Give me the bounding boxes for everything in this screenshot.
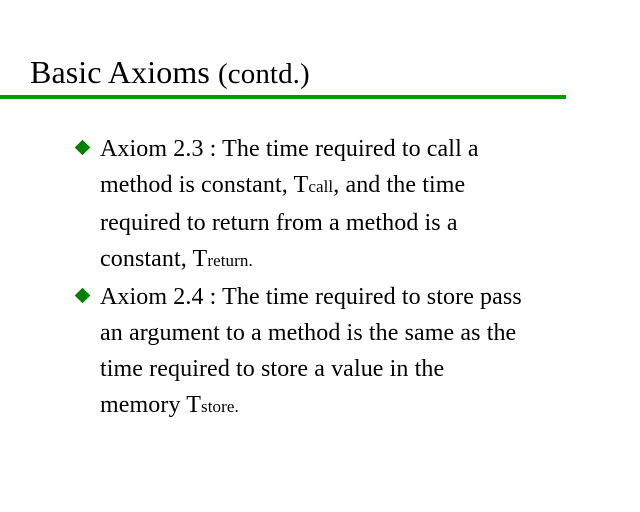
page-title-main: Basic Axioms bbox=[30, 54, 218, 90]
bullet-line: required to return from a method is a bbox=[100, 205, 640, 241]
bullet-text-segment: , and the time bbox=[333, 172, 465, 198]
bullet-text-segment: method is constant, bbox=[100, 172, 294, 198]
page-title-suffix: (contd.) bbox=[218, 58, 310, 90]
bullet-text-block: Axiom 2.3 : The time required to call a … bbox=[100, 131, 640, 279]
variable-subscript: return. bbox=[207, 251, 253, 270]
bullet-line: Axiom 2.4 : The time required to store p… bbox=[100, 279, 640, 315]
green-diamond-bullet-icon bbox=[75, 140, 91, 156]
variable-symbol: T bbox=[186, 392, 201, 418]
bullet-text-segment: Axiom 2.3 : The time required to call a bbox=[100, 136, 479, 162]
variable-symbol: T bbox=[294, 172, 309, 198]
slide-title-block: Basic Axioms (contd.) bbox=[0, 52, 640, 100]
green-diamond-bullet-icon bbox=[75, 288, 91, 304]
bullet-line: memory Tstore. bbox=[100, 387, 640, 425]
bullet-text-block: Axiom 2.4 : The time required to store p… bbox=[100, 279, 640, 425]
bullet-text-segment: constant, bbox=[100, 246, 193, 272]
page-title: Basic Axioms (contd.) bbox=[30, 52, 310, 94]
bullet-line: method is constant, Tcall, and the time bbox=[100, 167, 640, 205]
list-item: Axiom 2.4 : The time required to store p… bbox=[0, 279, 640, 425]
bullet-text-segment: Axiom 2.4 : The time required to store p… bbox=[100, 284, 522, 310]
variable-symbol: T bbox=[193, 246, 208, 272]
bullet-text-segment: an argument to a method is the same as t… bbox=[100, 320, 516, 346]
title-underline-rule bbox=[0, 95, 566, 99]
list-item: Axiom 2.3 : The time required to call a … bbox=[0, 131, 640, 279]
slide-body-content: Axiom 2.3 : The time required to call a … bbox=[0, 131, 640, 425]
bullet-line: constant, Treturn. bbox=[100, 241, 640, 279]
variable-subscript: store. bbox=[201, 397, 239, 416]
bullet-text-segment: time required to store a value in the bbox=[100, 356, 444, 382]
bullet-line: an argument to a method is the same as t… bbox=[100, 315, 640, 351]
variable-subscript: call bbox=[308, 177, 333, 196]
bullet-text-segment: memory bbox=[100, 392, 186, 418]
bullet-line: time required to store a value in the bbox=[100, 351, 640, 387]
bullet-text-segment: required to return from a method is a bbox=[100, 210, 458, 236]
slide-canvas: Basic Axioms (contd.) Axiom 2.3 : The ti… bbox=[0, 0, 640, 512]
bullet-line: Axiom 2.3 : The time required to call a bbox=[100, 131, 640, 167]
